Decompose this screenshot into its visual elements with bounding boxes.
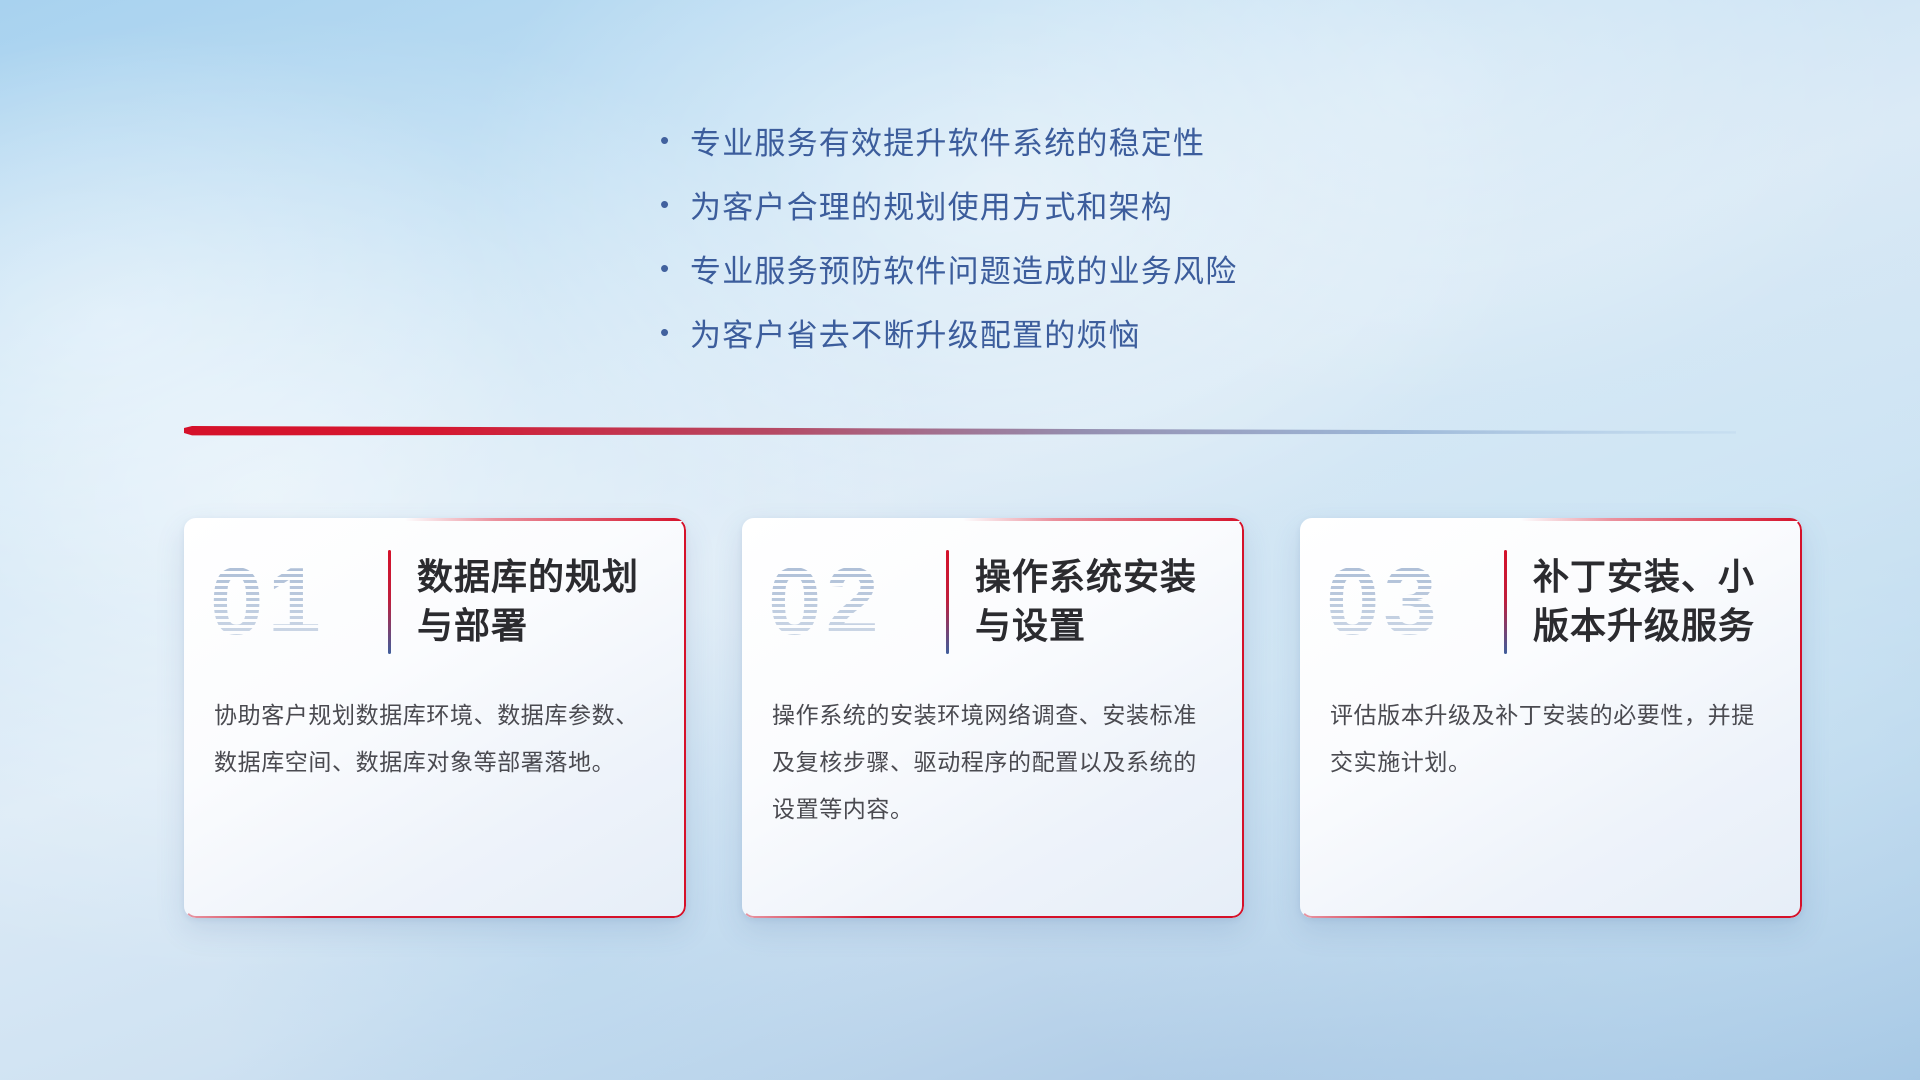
- service-card-01[interactable]: 01 数据库的规划与部署 协助客户规划数据库环境、数据库参数、数据库空间、数据库…: [184, 518, 686, 918]
- card-body-text: 评估版本升级及补丁安装的必要性，并提交实施计划。: [1300, 686, 1802, 786]
- bullet-text: 专业服务有效提升软件系统的稳定性: [690, 118, 1205, 163]
- card-title: 数据库的规划与部署: [417, 553, 664, 650]
- card-header: 03 补丁安装、小版本升级服务: [1300, 518, 1802, 686]
- card-body-text: 操作系统的安装环境网络调查、安装标准及复核步骤、驱动程序的配置以及系统的设置等内…: [742, 686, 1244, 833]
- bullet-text: 为客户合理的规划使用方式和架构: [690, 182, 1173, 227]
- benefits-bullet-list: • 专业服务有效提升软件系统的稳定性 • 为客户合理的规划使用方式和架构 • 专…: [660, 108, 1560, 364]
- bullet-dot-icon: •: [660, 319, 690, 345]
- bullet-text: 专业服务预防软件问题造成的业务风险: [690, 246, 1237, 291]
- card-title: 操作系统安装与设置: [975, 553, 1222, 650]
- card-header: 02 操作系统安装与设置: [742, 518, 1244, 686]
- list-item: • 为客户省去不断升级配置的烦恼: [660, 300, 1560, 364]
- card-header: 01 数据库的规划与部署: [184, 518, 686, 686]
- list-item: • 为客户合理的规划使用方式和架构: [660, 172, 1560, 236]
- card-title: 补丁安装、小版本升级服务: [1533, 553, 1780, 650]
- card-body-text: 协助客户规划数据库环境、数据库参数、数据库空间、数据库对象等部署落地。: [184, 686, 686, 786]
- card-divider-rule: [946, 550, 949, 654]
- bullet-dot-icon: •: [660, 127, 690, 153]
- card-divider-rule: [1504, 550, 1507, 654]
- card-divider-rule: [388, 550, 391, 654]
- slide-canvas: • 专业服务有效提升软件系统的稳定性 • 为客户合理的规划使用方式和架构 • 专…: [0, 0, 1920, 1080]
- bullet-dot-icon: •: [660, 191, 690, 217]
- card-number: 01: [210, 544, 382, 660]
- section-divider: [184, 424, 1736, 442]
- service-card-02[interactable]: 02 操作系统安装与设置 操作系统的安装环境网络调查、安装标准及复核步骤、驱动程…: [742, 518, 1244, 918]
- service-card-list: 01 数据库的规划与部署 协助客户规划数据库环境、数据库参数、数据库空间、数据库…: [184, 518, 1804, 918]
- list-item: • 专业服务有效提升软件系统的稳定性: [660, 108, 1560, 172]
- card-number: 02: [768, 544, 940, 660]
- service-card-03[interactable]: 03 补丁安装、小版本升级服务 评估版本升级及补丁安装的必要性，并提交实施计划。: [1300, 518, 1802, 918]
- list-item: • 专业服务预防软件问题造成的业务风险: [660, 236, 1560, 300]
- bullet-text: 为客户省去不断升级配置的烦恼: [690, 310, 1141, 355]
- card-number: 03: [1326, 544, 1498, 660]
- bullet-dot-icon: •: [660, 255, 690, 281]
